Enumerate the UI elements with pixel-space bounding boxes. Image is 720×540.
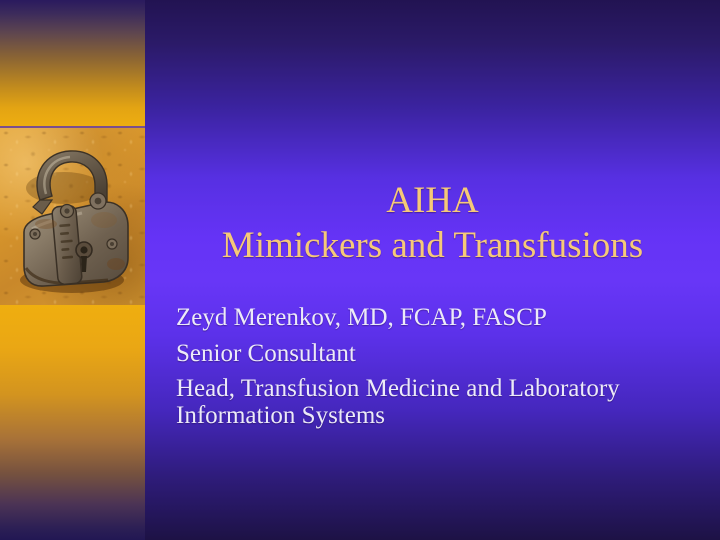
strip-top-gradient-band — [0, 0, 145, 127]
subtitle-line-role: Senior Consultant — [176, 339, 696, 369]
left-decorative-strip — [0, 0, 145, 540]
subtitle-line-presenter: Zeyd Merenkov, MD, FCAP, FASCP — [176, 303, 696, 333]
padlock-photo — [0, 128, 145, 305]
strip-bottom-gradient-band — [0, 305, 145, 540]
title-line-2: Mimickers and Transfusions — [145, 223, 720, 268]
slide-title: AIHA Mimickers and Transfusions — [145, 178, 720, 268]
padlock-icon — [0, 128, 145, 305]
slide-subtitle: Zeyd Merenkov, MD, FCAP, FASCP Senior Co… — [176, 303, 696, 429]
title-slide: AIHA Mimickers and Transfusions Zeyd Mer… — [0, 0, 720, 540]
title-line-1: AIHA — [145, 178, 720, 223]
subtitle-line-department: Head, Transfusion Medicine and Laborator… — [176, 375, 696, 429]
